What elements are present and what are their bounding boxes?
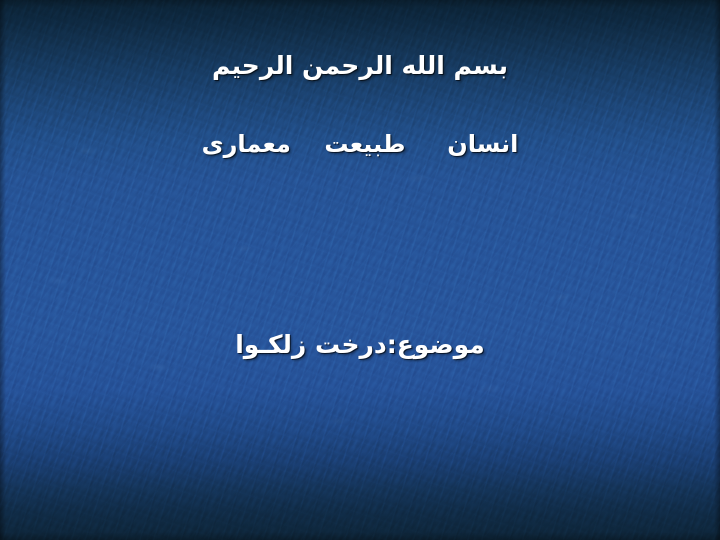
- slide-content: بسم الله الرحمن الرحیم انسان طبیعت معمار…: [0, 0, 720, 540]
- subject-title: موضوع:درخت زلکـوا: [0, 331, 720, 359]
- bismillah-heading: بسم الله الرحمن الرحیم: [0, 52, 720, 80]
- presentation-slide: بسم الله الرحمن الرحیم انسان طبیعت معمار…: [0, 0, 720, 540]
- subtitle-theme-words: انسان طبیعت معماری: [0, 131, 720, 157]
